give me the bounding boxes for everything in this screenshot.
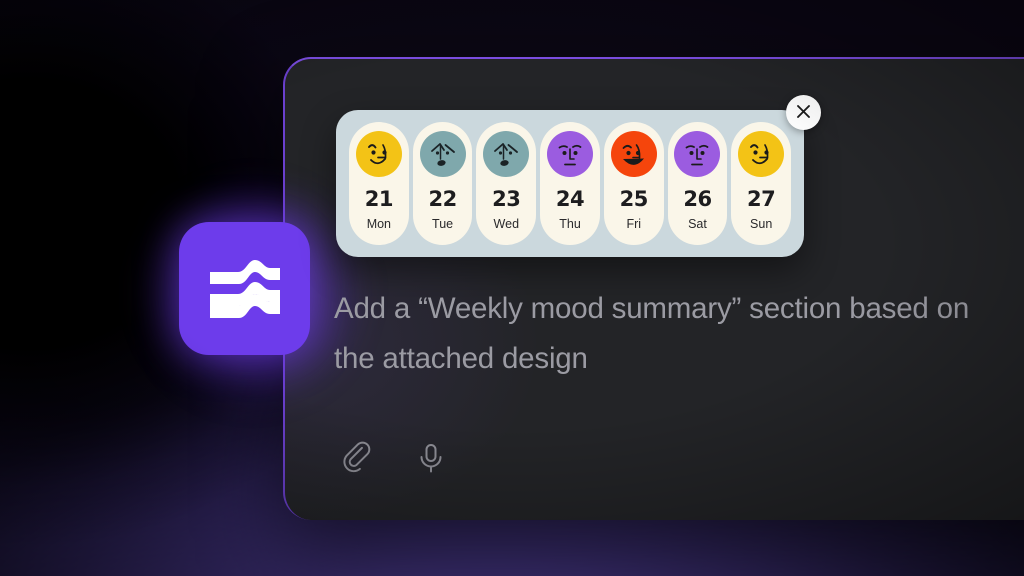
weekly-mood-summary-card[interactable]: 21 Mon 22 Tue — [336, 110, 804, 257]
app-logo[interactable] — [179, 222, 310, 355]
mood-day-pill[interactable]: 24 Thu — [540, 122, 600, 245]
waves-logo-icon — [208, 258, 282, 320]
mood-day-number: 24 — [556, 189, 584, 210]
mood-day-name: Fri — [626, 218, 641, 231]
mood-face-sad-icon — [420, 131, 466, 177]
paperclip-icon — [339, 440, 375, 479]
mood-face-neutral-icon — [547, 131, 593, 177]
mood-day-number: 23 — [492, 189, 520, 210]
mood-day-pill[interactable]: 25 Fri — [604, 122, 664, 245]
mood-day-pill[interactable]: 26 Sat — [668, 122, 728, 245]
mood-day-number: 25 — [620, 189, 648, 210]
attach-file-button[interactable] — [334, 436, 380, 482]
mood-face-neutral-icon — [674, 131, 720, 177]
mood-day-name: Tue — [432, 218, 453, 231]
mood-day-name: Wed — [494, 218, 519, 231]
prompt-text[interactable]: Add a “Weekly mood summary” section base… — [334, 284, 974, 384]
microphone-icon — [414, 441, 448, 478]
mood-day-name: Sun — [750, 218, 772, 231]
mood-day-number: 26 — [683, 189, 711, 210]
screen: 21 Mon 22 Tue — [0, 0, 1024, 576]
mood-day-number: 22 — [428, 189, 456, 210]
mood-day-pill[interactable]: 21 Mon — [349, 122, 409, 245]
mood-face-excited-icon — [611, 131, 657, 177]
mood-day-name: Thu — [559, 218, 581, 231]
close-attachment-button[interactable] — [786, 95, 821, 130]
mood-face-happy-icon — [356, 131, 402, 177]
mood-day-number: 21 — [365, 189, 393, 210]
mood-day-number: 27 — [747, 189, 775, 210]
mood-day-pill[interactable]: 23 Wed — [476, 122, 536, 245]
mood-face-sad-icon — [483, 131, 529, 177]
close-icon — [795, 103, 812, 123]
mood-day-name: Mon — [367, 218, 391, 231]
composer-actions — [334, 436, 454, 482]
mood-day-pill[interactable]: 22 Tue — [413, 122, 473, 245]
voice-input-button[interactable] — [408, 436, 454, 482]
mood-day-pill[interactable]: 27 Sun — [731, 122, 791, 245]
mood-face-happy-icon — [738, 131, 784, 177]
mood-day-name: Sat — [688, 218, 707, 231]
